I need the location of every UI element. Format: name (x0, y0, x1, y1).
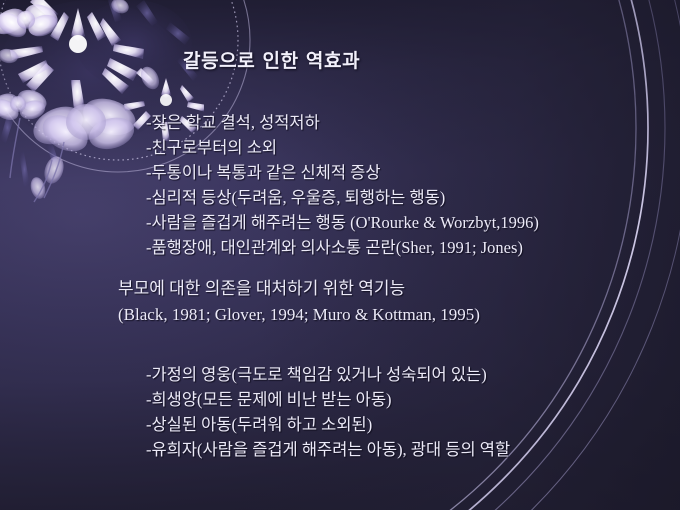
slide-title: 갈등으로 인한 역효과 (183, 46, 360, 73)
bullet-list-roles: -가정의 영웅(극도로 책임감 있거나 성숙되어 있는) -희생양(모든 문제에… (146, 362, 510, 462)
paragraph-dysfunction: 부모에 대한 의존을 대처하기 위한 역기능 (Black, 1981; Glo… (118, 276, 480, 328)
citation-line: (Black, 1981; Glover, 1994; Muro & Kottm… (118, 302, 480, 328)
list-item: -두통이나 복통과 같은 신체적 증상 (146, 160, 539, 185)
list-item: -상실된 아동(두려워 하고 소외된) (146, 412, 510, 437)
list-item: -사람을 즐겁게 해주려는 행동 (O'Rourke & Worzbyt,199… (146, 210, 539, 235)
bullet-list-symptoms: -잦은 학교 결석, 성적저하 -친구로부터의 소외 -두통이나 복통과 같은 … (146, 110, 539, 260)
list-item: -가정의 영웅(극도로 책임감 있거나 성숙되어 있는) (146, 362, 510, 387)
list-item: -유희자(사람을 즐겁게 해주려는 아동), 광대 등의 역할 (146, 437, 510, 462)
list-item: -품행장애, 대인관계와 의사소통 곤란(Sher, 1991; Jones) (146, 235, 539, 260)
list-item: -심리적 등상(두려움, 우울증, 퇴행하는 행동) (146, 185, 539, 210)
paragraph-line: 부모에 대한 의존을 대처하기 위한 역기능 (118, 276, 480, 302)
list-item: -친구로부터의 소외 (146, 135, 539, 160)
presentation-slide: 갈등으로 인한 역효과 -잦은 학교 결석, 성적저하 -친구로부터의 소외 -… (0, 0, 680, 510)
list-item: -잦은 학교 결석, 성적저하 (146, 110, 539, 135)
list-item: -희생양(모든 문제에 비난 받는 아동) (146, 387, 510, 412)
